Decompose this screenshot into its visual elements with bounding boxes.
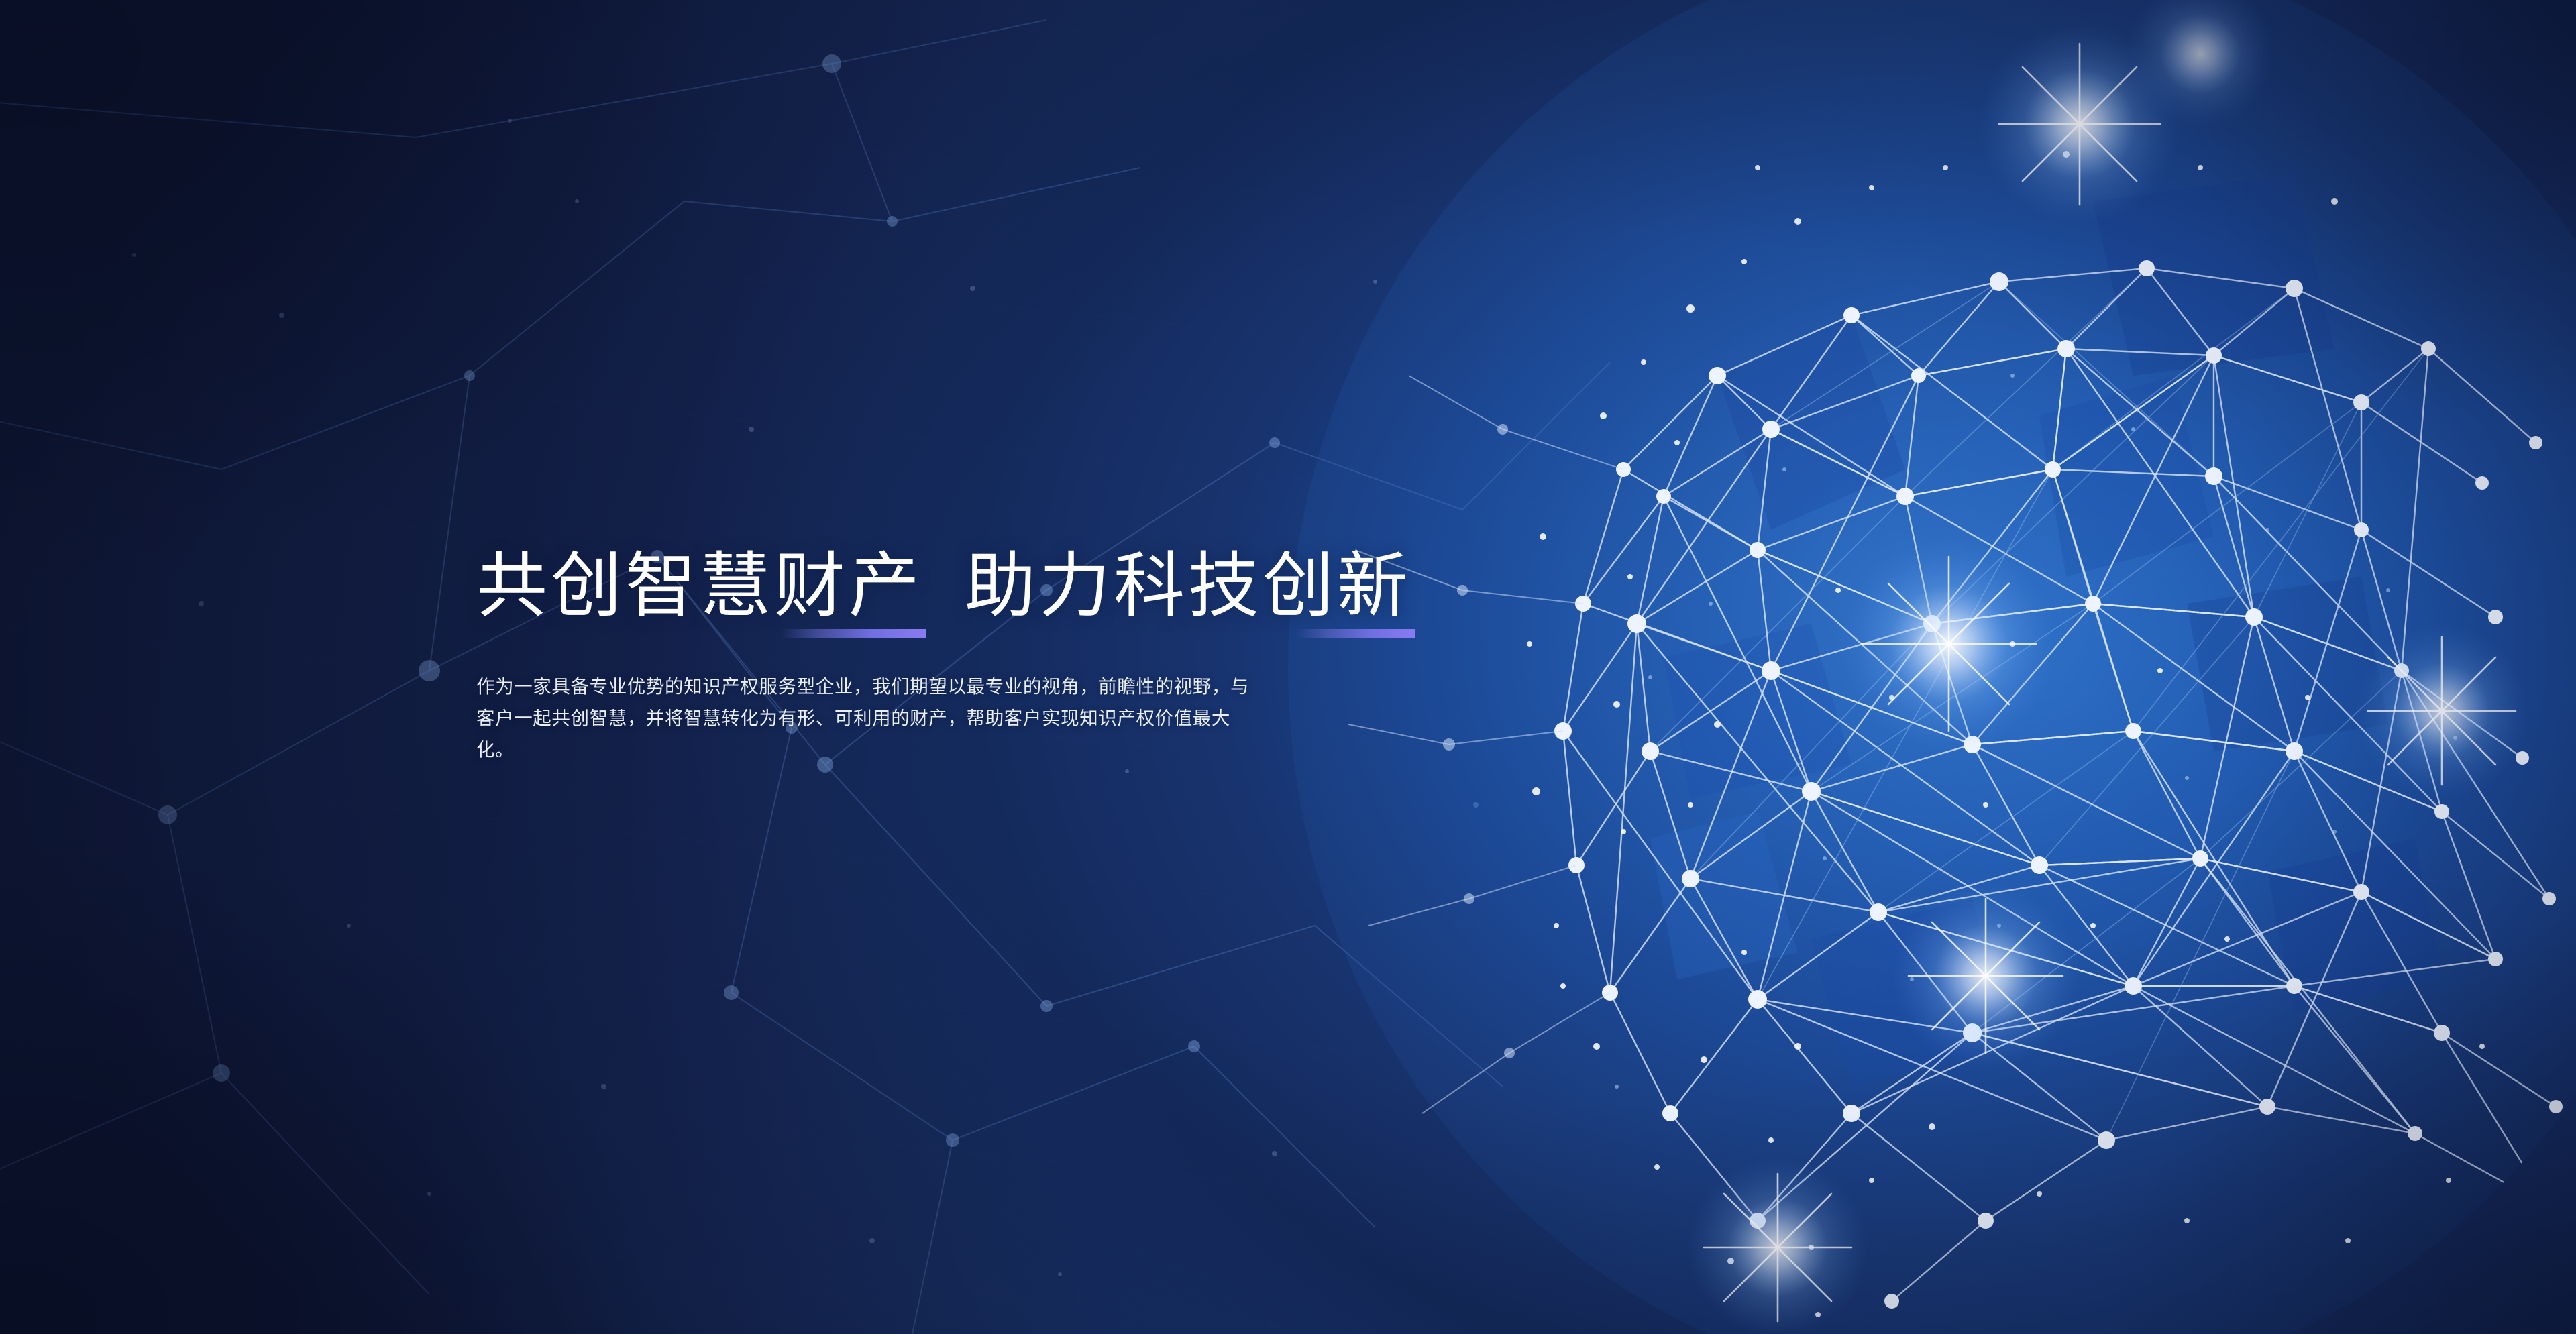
page-title: 共创智慧财产 助力科技创新 — [476, 549, 1550, 638]
banner-hero: 共创智慧财产 助力科技创新 作为一家具备专业优势的知识产权服务型企业，我们期望以… — [0, 0, 2576, 1334]
headline-segment-one: 共创智慧财产 — [476, 549, 923, 638]
hero-description: 作为一家具备专业优势的知识产权服务型企业，我们期望以最专业的视角，前瞻性的视野，… — [476, 671, 1254, 765]
headline-underline-accent-one — [780, 629, 926, 638]
headline-segment-two: 助力科技创新 — [965, 549, 1411, 638]
headline-segment-one-text: 共创智慧财产 — [476, 547, 923, 626]
hero-text-block: 共创智慧财产 助力科技创新 作为一家具备专业优势的知识产权服务型企业，我们期望以… — [476, 549, 1550, 784]
headline-segment-two-text: 助力科技创新 — [965, 547, 1411, 626]
headline-underline-accent-two — [1296, 629, 1415, 638]
